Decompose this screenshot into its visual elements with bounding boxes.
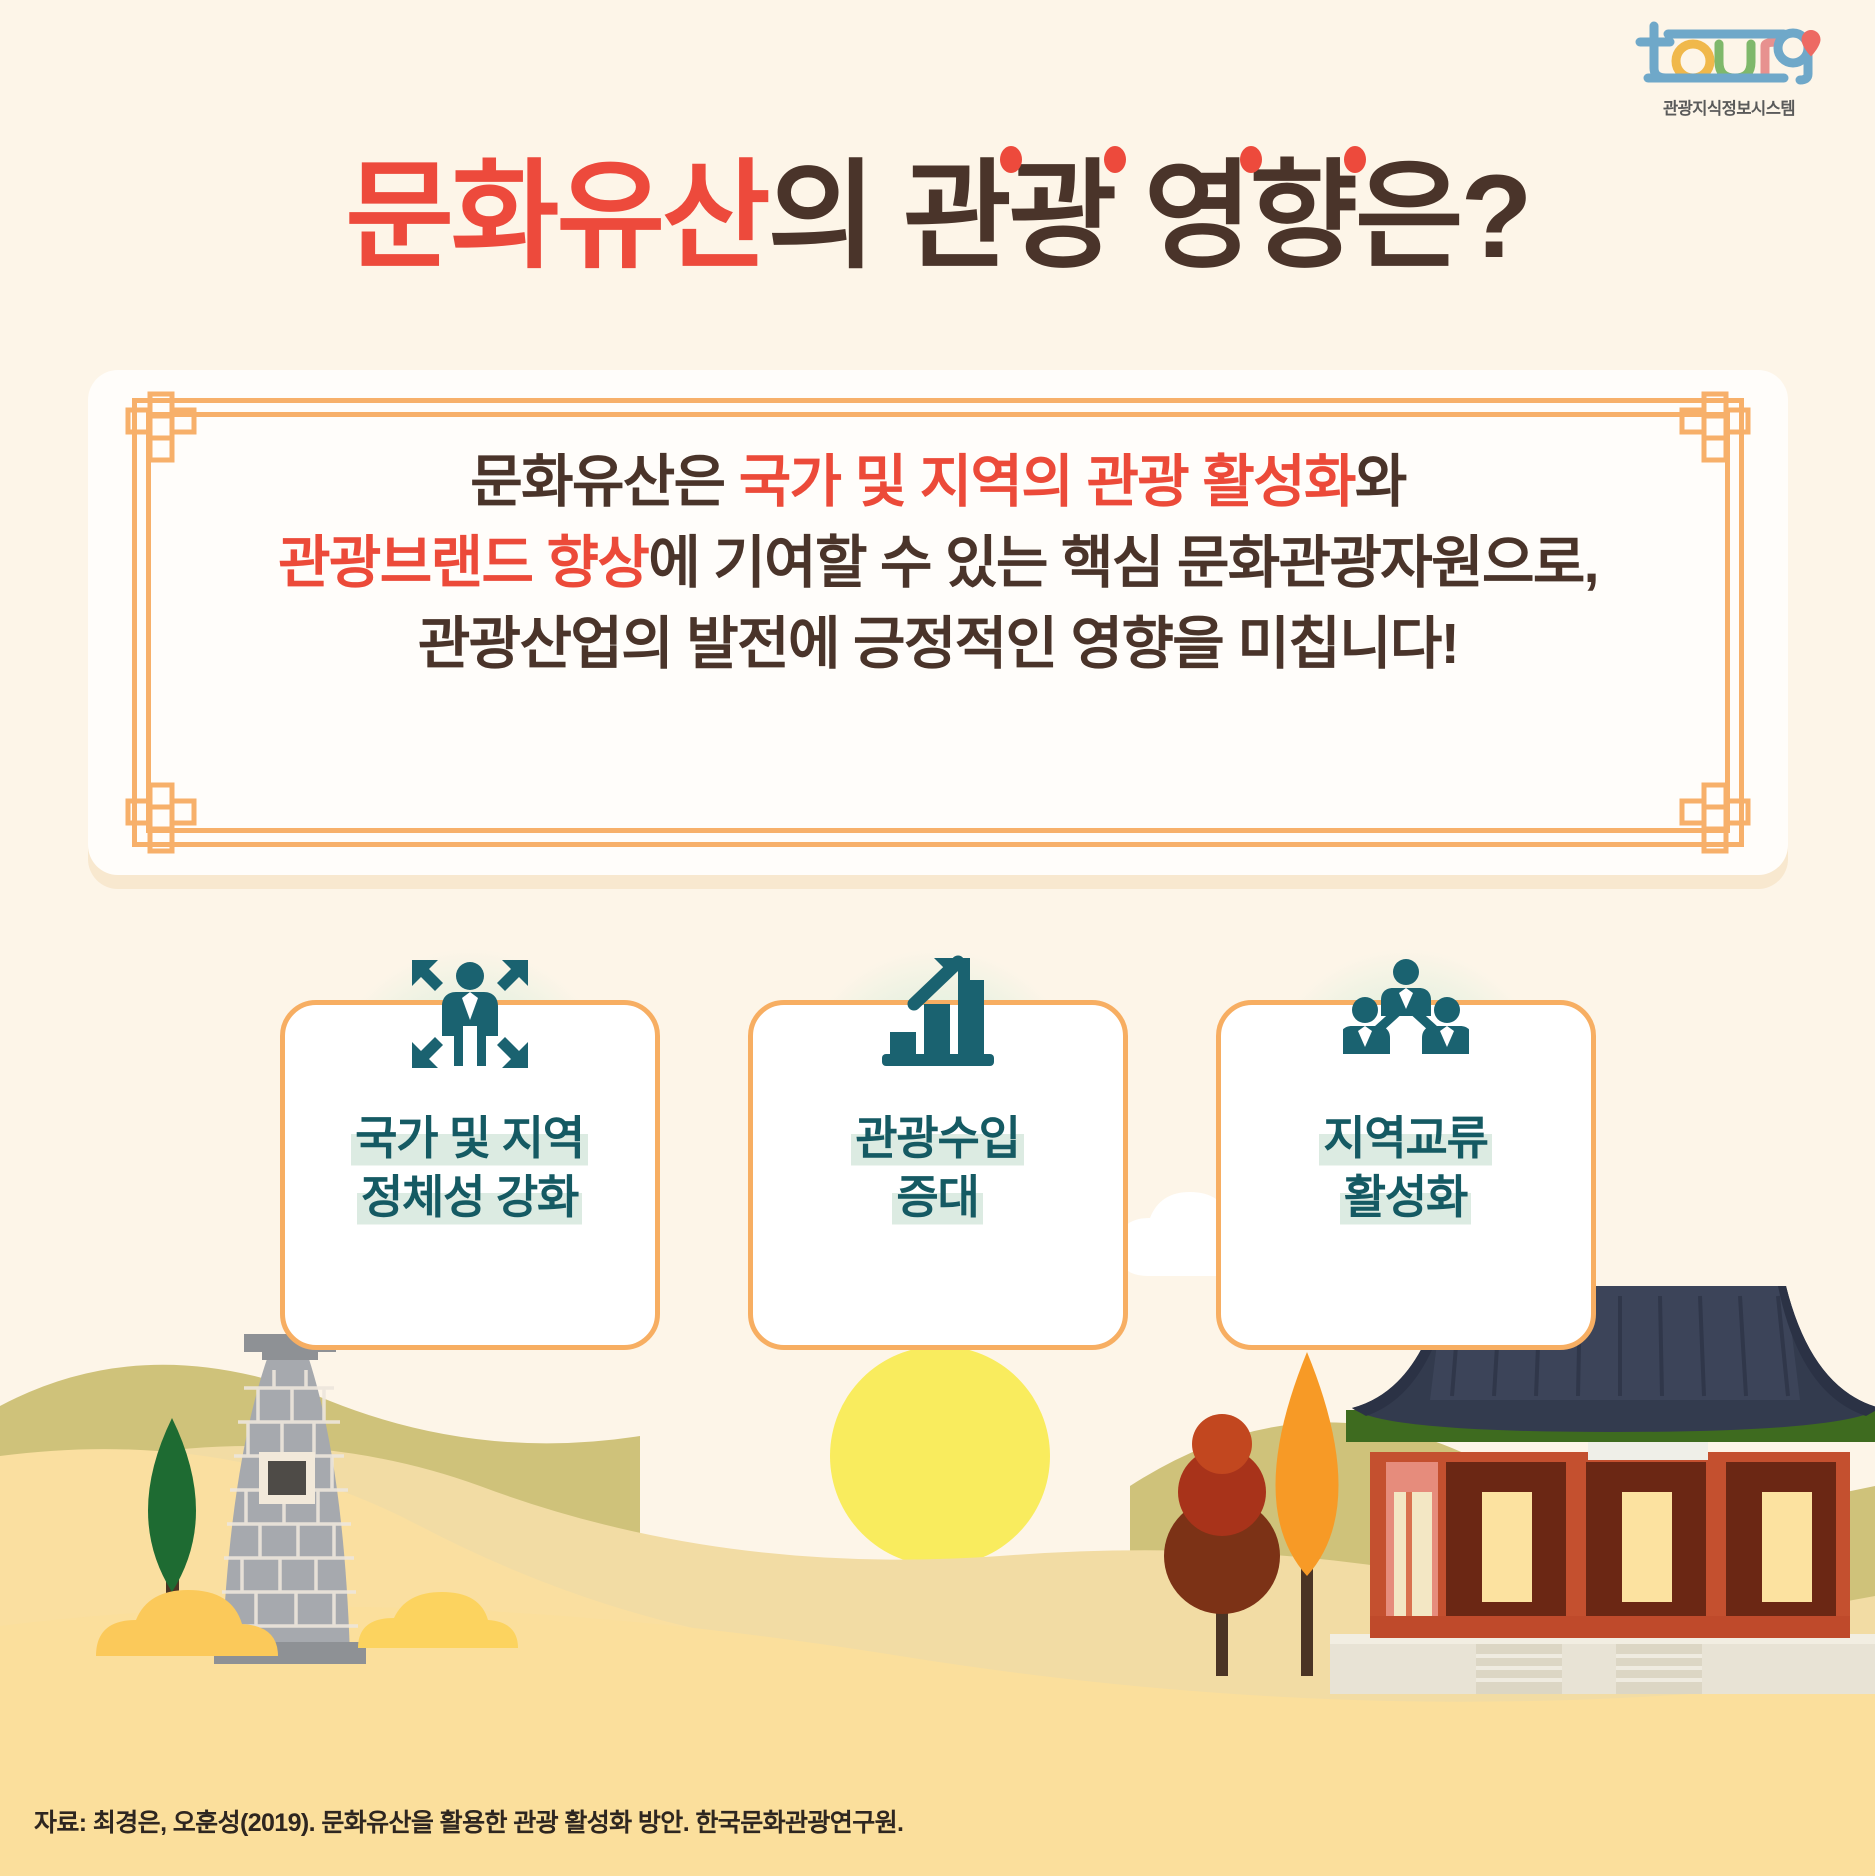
source-text: 자료: 최경은, 오훈성(2019). 문화유산을 활용한 관광 활성화 방안.… (0, 1803, 903, 1839)
title-text-line: 문화유산의 관광 영향은? (0, 148, 1875, 287)
benefit-card-label: 관광수입 증대 (851, 1109, 1023, 1227)
logo-subtitle: 관광지식정보시스템 (1629, 95, 1829, 119)
people-network-icon (1340, 953, 1472, 1075)
benefit-card-exchange[interactable]: 지역교류 활성화 (1216, 1000, 1596, 1350)
statement-line-2: 관광브랜드 향상에 기여할 수 있는 핵심 문화관광자원으로, (88, 523, 1788, 604)
benefit-label-line1: 관광수입 (851, 1109, 1023, 1168)
statement-card: 문화유산은 국가 및 지역의 관광 활성화와 관광브랜드 향상에 기여할 수 있… (88, 370, 1788, 875)
benefit-card-revenue[interactable]: 관광수입 증대 (748, 1000, 1128, 1350)
title-rest: 의 관광 영향은? (768, 151, 1530, 283)
infographic-canvas: 관광지식정보시스템 문화유산의 관광 영향은? (0, 0, 1875, 1876)
benefit-card-label: 국가 및 지역 정체성 강화 (351, 1109, 588, 1227)
source-footer: 자료: 최경은, 오훈성(2019). 문화유산을 활용한 관광 활성화 방안.… (0, 1766, 1875, 1876)
bar-chart-rising-arrow-icon (872, 953, 1004, 1075)
benefit-label-line1: 지역교류 (1319, 1109, 1491, 1168)
benefit-card-label: 지역교류 활성화 (1319, 1109, 1491, 1227)
title-highlight: 문화유산 (345, 151, 767, 283)
benefit-label-line1: 국가 및 지역 (351, 1109, 588, 1168)
statement-text: 문화유산은 국가 및 지역의 관광 활성화와 관광브랜드 향상에 기여할 수 있… (88, 442, 1788, 685)
sun-icon (830, 1346, 1050, 1566)
knot-corner-bottom-left-icon (118, 775, 204, 861)
benefit-card-identity[interactable]: 국가 및 지역 정체성 강화 (280, 1000, 660, 1350)
brand-logo[interactable]: 관광지식정보시스템 (1629, 16, 1829, 119)
person-four-arrows-icon (404, 953, 536, 1075)
statement-line-3: 관광산업의 발전에 긍정적인 영향을 미칩니다! (88, 604, 1788, 685)
knot-corner-bottom-right-icon (1672, 775, 1758, 861)
benefit-label-line2: 정체성 강화 (357, 1168, 582, 1227)
benefit-label-line2: 증대 (892, 1168, 982, 1227)
benefit-card-list: 국가 및 지역 정체성 강화 관광수입 증대 (0, 1000, 1875, 1350)
statement-line-1: 문화유산은 국가 및 지역의 관광 활성화와 (88, 442, 1788, 523)
tour9-wordmark-icon (1634, 16, 1824, 90)
page-title: 문화유산의 관광 영향은? (0, 148, 1875, 287)
benefit-label-line2: 활성화 (1340, 1168, 1471, 1227)
